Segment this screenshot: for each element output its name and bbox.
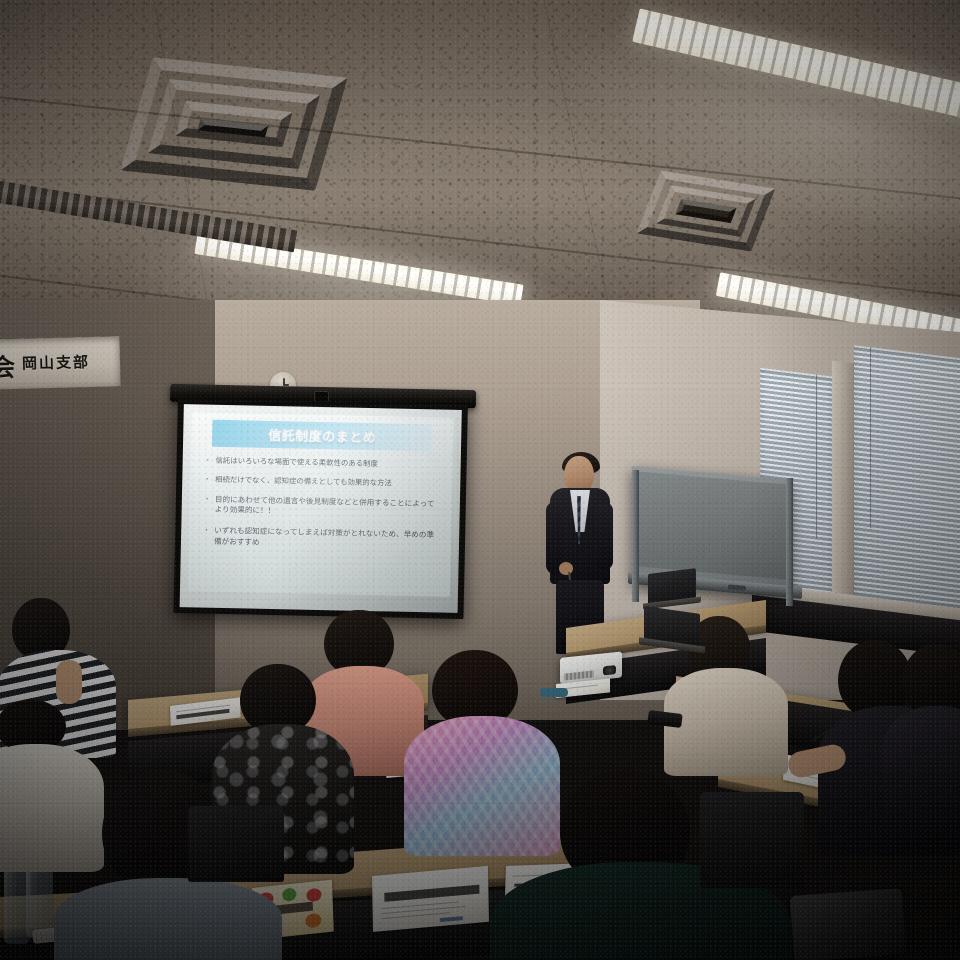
brochure-dot-orange [305, 913, 321, 929]
blind-cord[interactable] [870, 347, 871, 529]
brochure-dot-green [282, 887, 296, 901]
presenter [546, 454, 616, 644]
bullet-marker: ・ [204, 475, 212, 485]
slide-bullet: ・ いずれも認知症になってしまえば対策がとれないため、早めの準備がおすすめ [202, 526, 440, 551]
chair-center [188, 806, 284, 882]
slide-bullet: ・ 目的にあわせて他の遺言や後見制度などと併用することによってより効果的に！！ [203, 494, 441, 519]
window-right-pane [854, 345, 960, 611]
slide: 信託制度のまとめ ・ 信託はいろいろな場面で使える柔軟性のある制度 ・ 相続だけ… [188, 412, 453, 596]
bullet-text: 目的にあわせて他の遺言や後見制度などと併用することによってより効果的に！！ [215, 495, 442, 520]
brochure-dot-red2 [306, 888, 321, 903]
bullet-marker: ・ [202, 526, 210, 547]
slide-bullet: ・ 相続だけでなく、認知症の備えとしても効果的な方法 [204, 475, 442, 490]
attendee-body [54, 878, 282, 960]
attendee-body [0, 744, 104, 872]
presenter-hand [559, 562, 573, 575]
smartphone[interactable] [647, 710, 682, 728]
presenter-arm-right [596, 502, 613, 570]
slide-title: 信託制度のまとめ [268, 425, 376, 446]
screen-border: 信託制度のまとめ ・ 信託はいろいろな場面で使える柔軟性のある制度 ・ 相続だけ… [173, 398, 467, 619]
photo-scene: 会 岡山支部 信託制度のまとめ ・ 信託はい [0, 0, 960, 960]
air-diffuser-left [120, 57, 347, 191]
attendee-body [882, 706, 960, 836]
banner-text-left: 会 [0, 348, 16, 385]
projector-vent [564, 670, 594, 680]
bullet-text: 相続だけでなく、認知症の備えとしても効果的な方法 [215, 475, 442, 490]
screen-surface: 信託制度のまとめ ・ 信託はいろいろな場面で使える柔軟性のある制度 ・ 相続だけ… [180, 404, 462, 613]
attendee-body [664, 668, 788, 776]
slide-title-bar: 信託制度のまとめ [212, 420, 432, 451]
banner-text-right: 岡山支部 [22, 351, 91, 374]
bullet-marker: ・ [204, 456, 212, 466]
chair-right [700, 792, 804, 888]
window-mullion [832, 361, 854, 612]
bullet-text: いずれも認知症になってしまえば対策がとれないため、早めの準備がおすすめ [214, 526, 441, 551]
slide-bullets: ・ 信託はいろいろな場面で使える柔軟性のある制度 ・ 相続だけでなく、認知症の備… [202, 456, 442, 558]
projector-lens [603, 665, 616, 675]
camera-bag[interactable] [790, 888, 906, 960]
whiteboard-surface [637, 471, 787, 579]
banner: 会 岡山支部 [0, 336, 121, 389]
bullet-text: 信託はいろいろな場面で使える柔軟性のある制度 [215, 456, 442, 471]
whiteboard-leg-right [786, 478, 793, 606]
eyeglasses-case[interactable] [540, 688, 568, 697]
slide-bullet: ・ 信託はいろいろな場面で使える柔軟性のある制度 [204, 456, 442, 471]
whiteboard-leg-left [632, 470, 639, 602]
handout-front-center[interactable] [372, 866, 489, 932]
attendee-arm [56, 660, 82, 704]
blind-cord[interactable] [816, 374, 817, 538]
bullet-marker: ・ [203, 494, 211, 515]
attendee-body [404, 716, 560, 856]
